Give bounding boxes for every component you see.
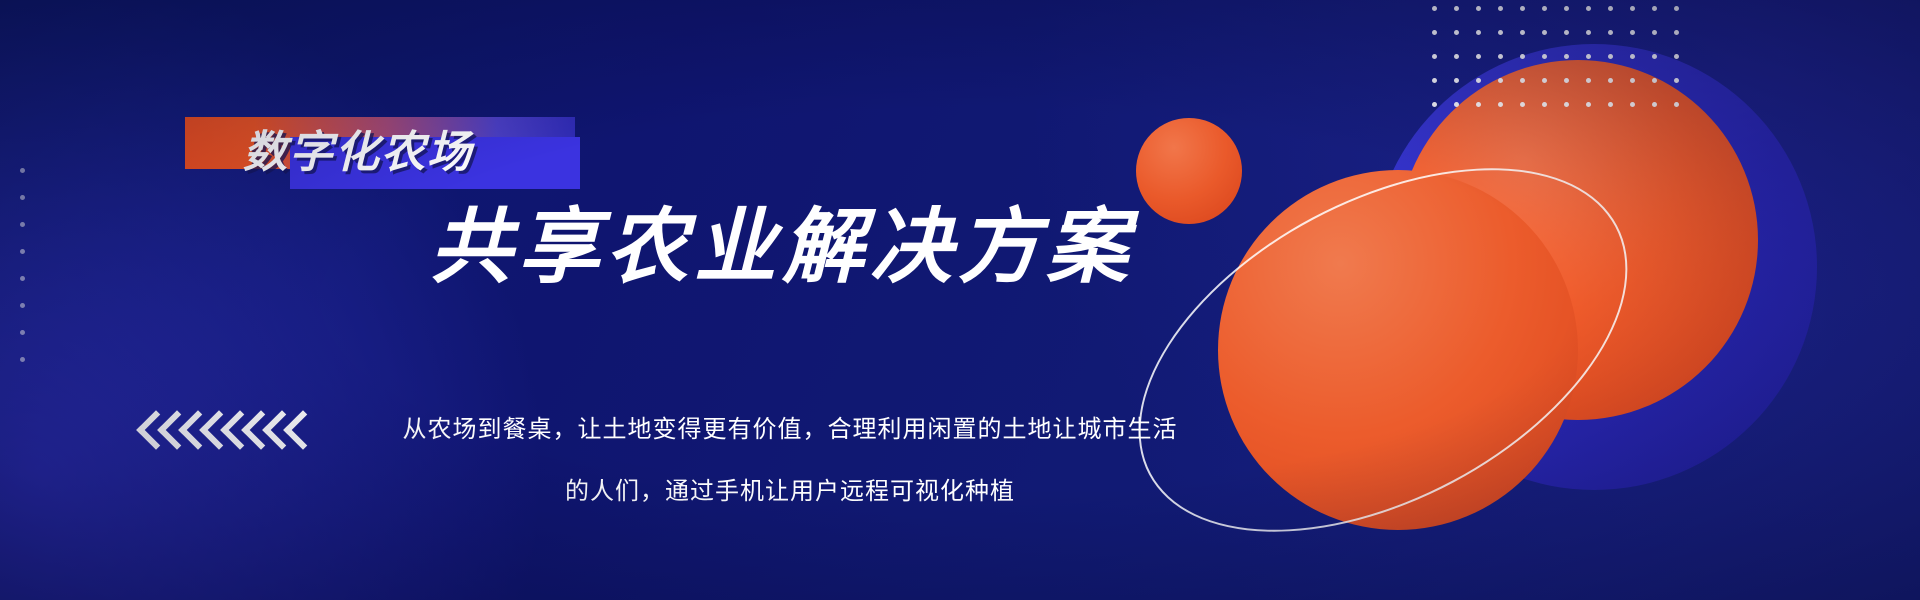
hero-banner: 数字化农场 共享农业解决方案 从农场到餐桌，让土地变得更有价值，合理利用闲置的土… — [0, 0, 1920, 600]
vignette-overlay — [0, 0, 1920, 600]
